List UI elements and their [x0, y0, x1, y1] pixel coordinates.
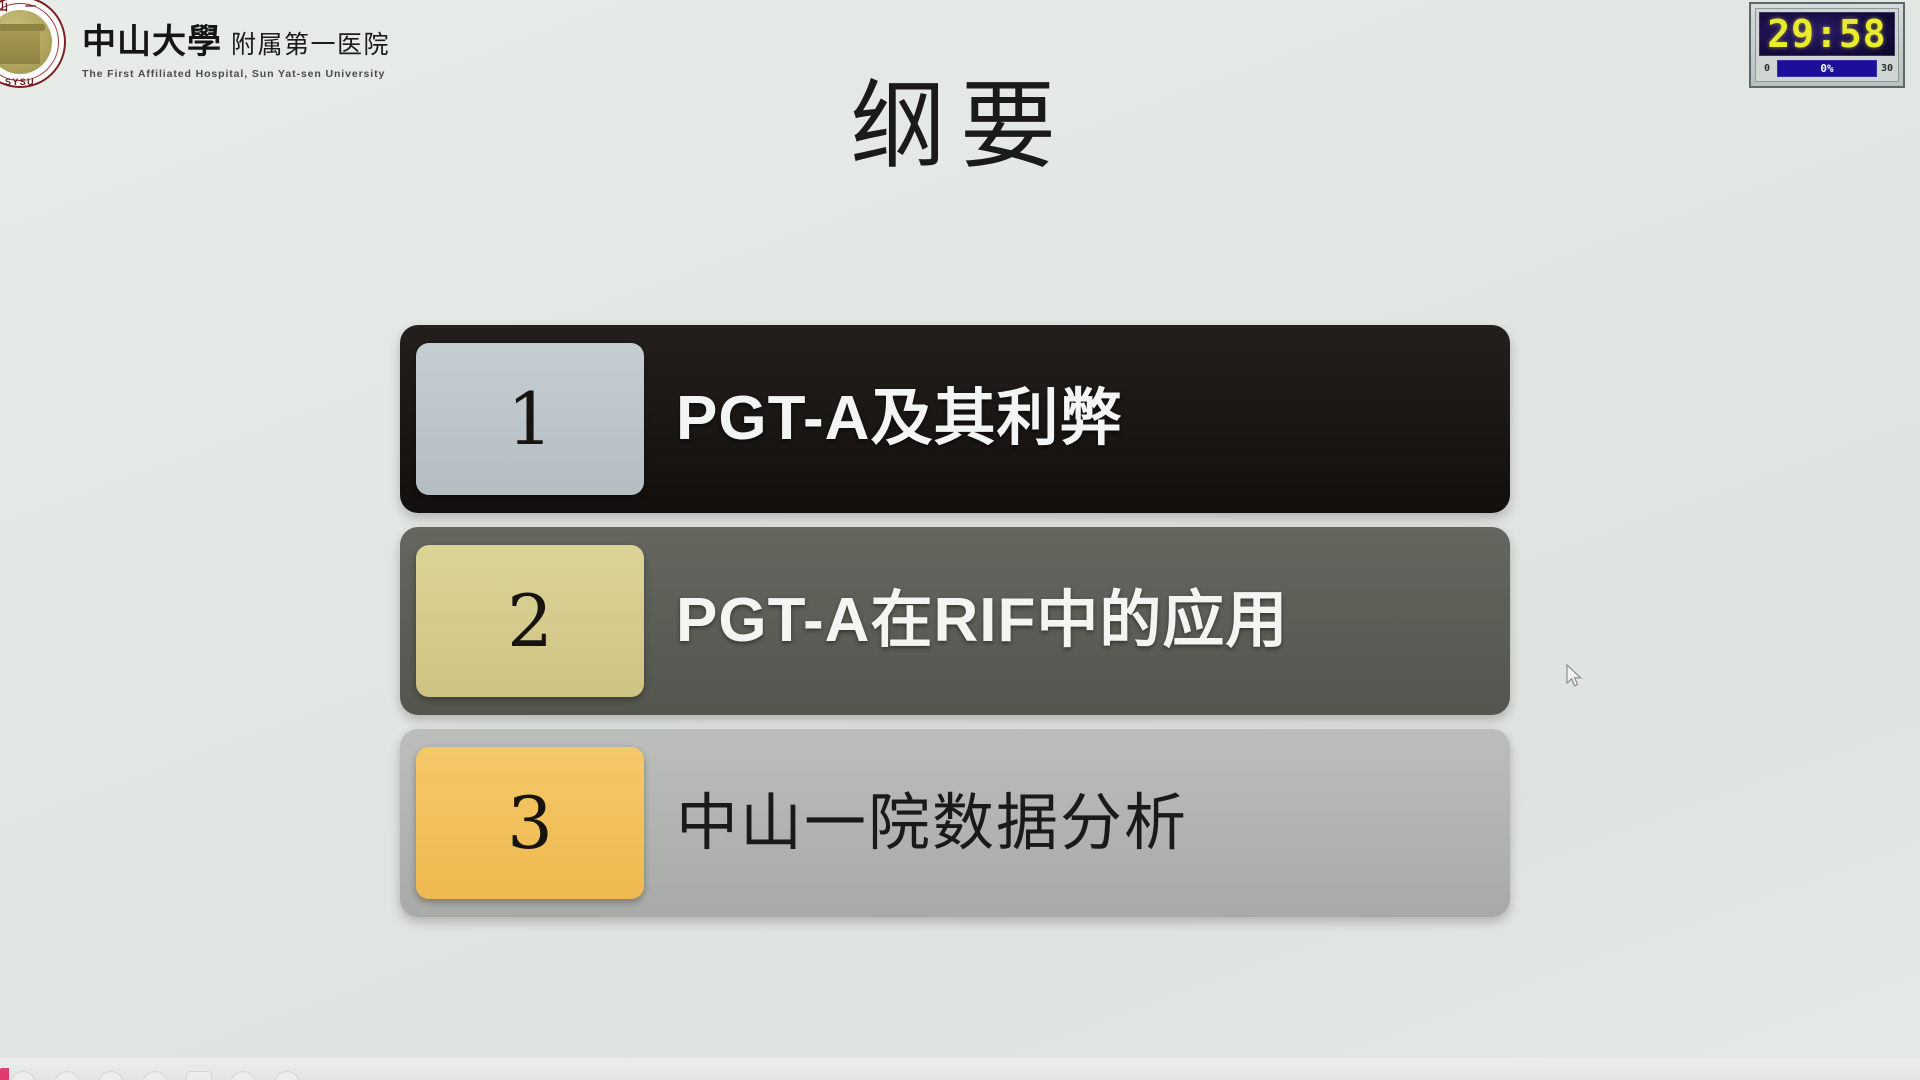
meeting-toolbar[interactable] — [0, 1058, 1920, 1080]
timer-range-max: 30 — [1880, 63, 1894, 74]
outline-list: 1 PGT-A及其利弊 2 PGT-A在RIF中的应用 3 中山一院数据分析 — [400, 325, 1510, 931]
outline-number-box-3: 3 — [416, 747, 644, 899]
slide-title: 纲要 — [0, 78, 1920, 174]
outline-number-2: 2 — [507, 585, 553, 657]
outline-number-box-1: 1 — [416, 343, 644, 495]
outline-number-box-2: 2 — [416, 545, 644, 697]
outline-label-1: PGT-A及其利弊 — [676, 388, 1122, 450]
timer-progress-bar: 0% — [1777, 60, 1877, 77]
cursor-arrow-icon — [1566, 664, 1584, 690]
hospital-branding: 中山大學 附属第一医院 The First Affiliated Hospita… — [82, 14, 390, 80]
recording-indicator — [0, 1068, 9, 1080]
mouse-cursor — [1566, 664, 1584, 690]
outline-item-1[interactable]: 1 PGT-A及其利弊 — [400, 325, 1510, 513]
timer-bezel: 29:58 0 0% 30 — [1755, 8, 1899, 82]
camera-icon[interactable] — [230, 1071, 256, 1080]
more-options-icon[interactable] — [274, 1071, 300, 1080]
screen-share-icon[interactable] — [186, 1071, 212, 1080]
timer-range-min: 0 — [1760, 63, 1774, 74]
countdown-timer-widget[interactable]: 29:58 0 0% 30 — [1749, 2, 1905, 88]
outline-item-3[interactable]: 3 中山一院数据分析 — [400, 729, 1510, 917]
refresh-icon[interactable] — [54, 1071, 80, 1080]
outline-number-3: 3 — [507, 787, 553, 859]
brand-chinese-line: 中山大學 附属第一医院 — [82, 14, 390, 63]
timer-value: 29:58 — [1767, 15, 1886, 53]
timer-display: 29:58 — [1759, 12, 1895, 56]
microphone-icon[interactable] — [142, 1071, 168, 1080]
outline-label-3: 中山一院数据分析 — [676, 792, 1188, 854]
outline-label-2: PGT-A在RIF中的应用 — [676, 590, 1288, 652]
outline-number-1: 1 — [507, 383, 553, 455]
sysu-seal-logo: 山 一 SYSU — [0, 0, 66, 88]
outline-item-2[interactable]: 2 PGT-A在RIF中的应用 — [400, 527, 1510, 715]
timer-percent-label: 0% — [1820, 62, 1833, 75]
pause-icon[interactable] — [98, 1071, 124, 1080]
university-name-cn: 中山大學 — [82, 14, 222, 63]
seal-gate-emblem — [0, 30, 40, 64]
hospital-name-cn: 附属第一医院 — [231, 25, 390, 61]
timer-progress-row: 0 0% 30 — [1759, 58, 1895, 78]
seal-chinese-text: 山 一 — [0, 0, 66, 14]
back-icon[interactable] — [10, 1071, 36, 1080]
